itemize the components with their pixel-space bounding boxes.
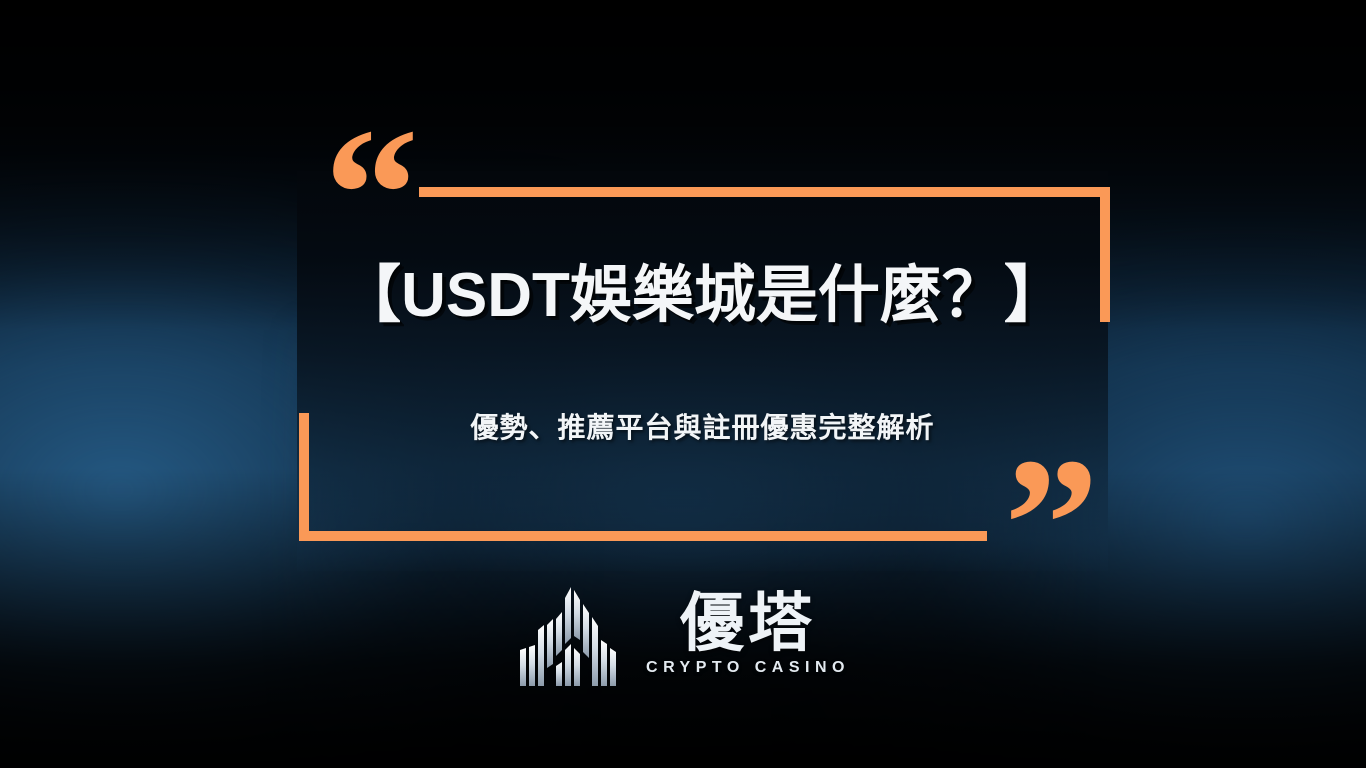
page-title: 【USDT娛樂城是什麼？】 xyxy=(297,262,1108,330)
page-subtitle: 優勢、推薦平台與註冊優惠完整解析 xyxy=(297,410,1108,446)
accent-rule-top xyxy=(419,187,1110,197)
brand-name-cn: 優塔 xyxy=(680,591,816,655)
banner-stage: “ ” 【USDT娛樂城是什麼？】 優勢、推薦平台與註冊優惠完整解析 xyxy=(0,0,1366,768)
accent-rule-bottom xyxy=(299,531,987,541)
tower-building-mark-icon xyxy=(516,578,624,690)
brand-name-en: CRYPTO CASINO xyxy=(646,659,850,677)
brand-text-block: 優塔 CRYPTO CASINO xyxy=(646,591,850,677)
brand-logo-lockup: 優塔 CRYPTO CASINO xyxy=(0,578,1366,690)
